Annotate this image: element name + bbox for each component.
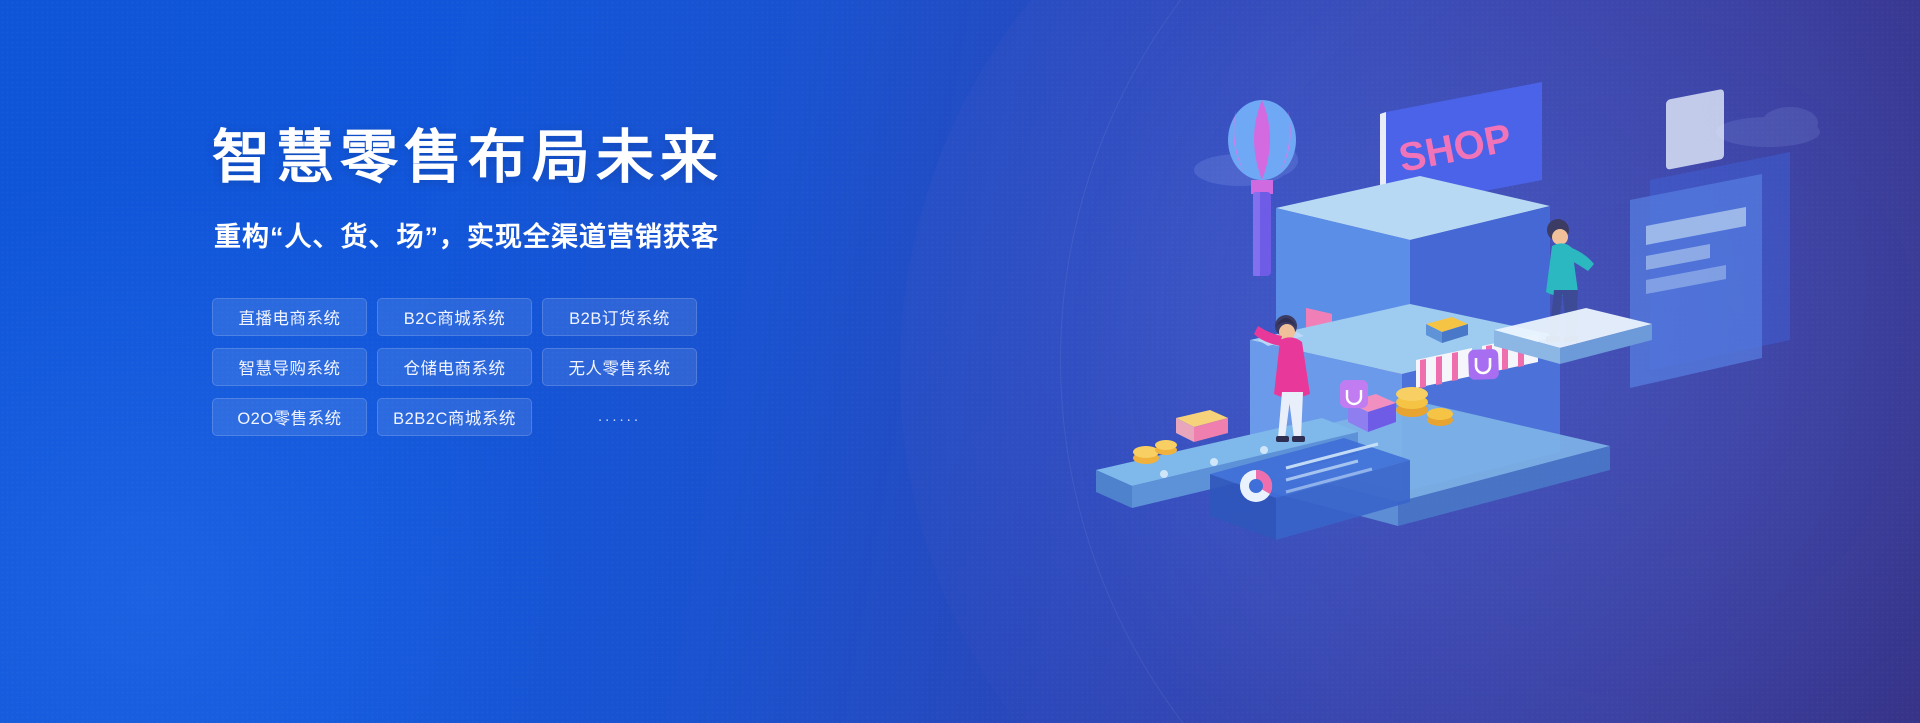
tag-unmanned-retail[interactable]: 无人零售系统 [542, 348, 697, 386]
tag-row: O2O零售系统 B2B2C商城系统 ...... [212, 398, 932, 436]
tag-more-ellipsis: ...... [542, 398, 697, 436]
donut-chart-icon [1240, 470, 1272, 502]
tag-b2b2c-mall[interactable]: B2B2C商城系统 [377, 398, 532, 436]
page-subtitle: 重构“人、货、场”，实现全渠道营销获客 [214, 215, 932, 254]
parcel-box [1176, 410, 1228, 442]
tag-badge-icon [1468, 349, 1499, 380]
shopping-bag-icon [1340, 380, 1368, 408]
tag-row: 直播电商系统 B2C商城系统 B2B订货系统 [212, 298, 932, 336]
page-title: 智慧零售布局未来 [212, 126, 932, 191]
tag-b2b-ordering[interactable]: B2B订货系统 [542, 298, 697, 336]
retail-isometric-illustration: SHOP [1090, 40, 1850, 640]
tag-row: 智慧导购系统 仓储电商系统 无人零售系统 [212, 348, 932, 386]
hero-banner: 智慧零售布局未来 重构“人、货、场”，实现全渠道营销获客 直播电商系统 B2C商… [0, 0, 1920, 723]
tag-warehouse-commerce[interactable]: 仓储电商系统 [377, 348, 532, 386]
copy-block: 智慧零售布局未来 重构“人、货、场”，实现全渠道营销获客 直播电商系统 B2C商… [212, 126, 932, 448]
tag-o2o-retail[interactable]: O2O零售系统 [212, 398, 367, 436]
product-tag-list: 直播电商系统 B2C商城系统 B2B订货系统 智慧导购系统 仓储电商系统 无人零… [212, 298, 932, 436]
tag-smart-guide[interactable]: 智慧导购系统 [212, 348, 367, 386]
tag-live-commerce[interactable]: 直播电商系统 [212, 298, 367, 336]
cloud-icon [1716, 107, 1820, 147]
tag-b2c-mall[interactable]: B2C商城系统 [377, 298, 532, 336]
